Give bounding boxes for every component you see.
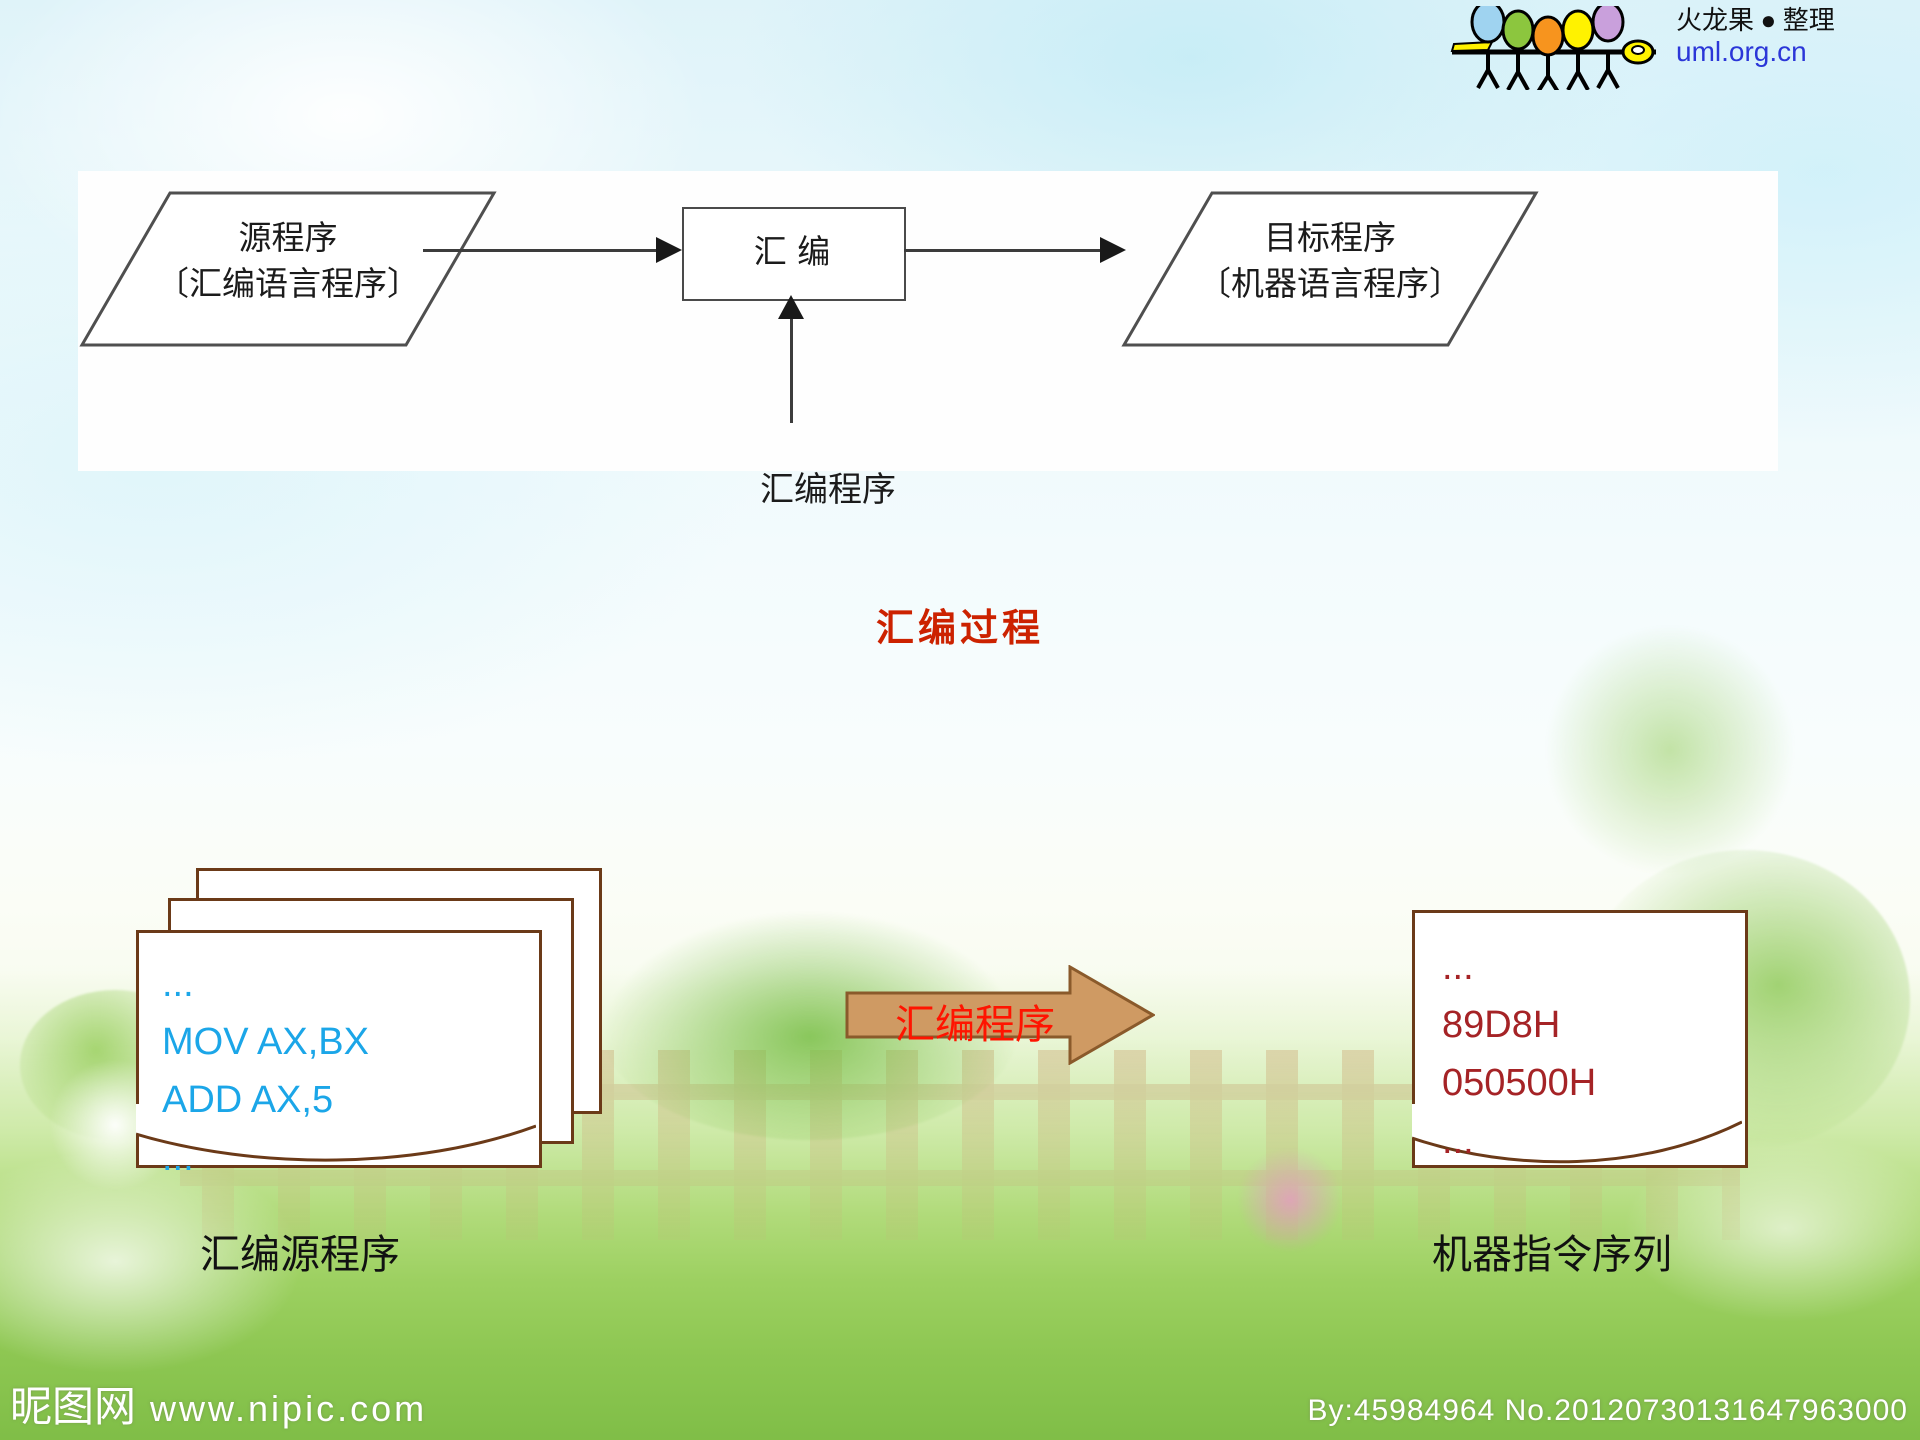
source-program-line1: 源程序	[108, 215, 468, 261]
arrow-assemble-to-target-line	[904, 249, 1104, 252]
source-code-line-3: ADD AX,5	[162, 1071, 369, 1129]
source-code-line-2: MOV AX,BX	[162, 1013, 369, 1071]
source-code-line-1: ...	[162, 955, 369, 1013]
object-code-line-1: ...	[1442, 938, 1596, 996]
target-program-label: 目标程序 〔机器语言程序〕	[1150, 215, 1510, 307]
nipic-site-name: 昵图网	[10, 1373, 136, 1434]
page-title: 汇编过程	[0, 597, 1920, 652]
nipic-site-url: www.nipic.com	[150, 1388, 427, 1430]
object-card-caption: 机器指令序列	[1432, 1222, 1672, 1280]
source-card-caption: 汇编源程序	[200, 1222, 400, 1280]
flower-cluster-right	[1230, 1140, 1350, 1260]
stick-figures-balloons-icon	[1444, 6, 1664, 90]
header-logo-area: 火龙果 ● 整理 uml.org.cn	[1206, 4, 1906, 90]
vine-decoration-right	[1540, 620, 1800, 880]
arrow-assembler-up-head	[778, 295, 804, 319]
target-program-line1: 目标程序	[1150, 215, 1510, 261]
assembler-arrow-label: 汇编程序	[880, 992, 1070, 1050]
brand-text: 火龙果 ● 整理 uml.org.cn	[1676, 6, 1896, 68]
nipic-watermark: 昵图网 www.nipic.com	[10, 1373, 427, 1434]
arrow-assembler-up-line	[790, 313, 793, 423]
source-program-label: 源程序 〔汇编语言程序〕	[108, 215, 468, 307]
source-program-line2: 〔汇编语言程序〕	[108, 261, 468, 307]
object-code-line-2: 89D8H	[1442, 996, 1596, 1054]
assemble-process-label: 汇 编	[682, 229, 902, 275]
object-card-code: ... 89D8H 050500H ...	[1442, 938, 1596, 1170]
source-code-line-4: ...	[162, 1129, 369, 1187]
target-program-line2: 〔机器语言程序〕	[1150, 261, 1510, 307]
assembly-flow-diagram: 源程序 〔汇编语言程序〕 汇 编 目标程序 〔机器语言程序〕	[78, 171, 1778, 471]
arrow-source-to-assemble-head	[656, 237, 682, 263]
brand-url[interactable]: uml.org.cn	[1676, 36, 1896, 68]
object-code-line-3: 050500H	[1442, 1054, 1596, 1112]
assembler-program-label: 汇编程序	[760, 462, 896, 511]
object-code-line-4: ...	[1442, 1112, 1596, 1170]
source-card-code: ... MOV AX,BX ADD AX,5 ...	[162, 955, 369, 1187]
brand-name: 火龙果 ● 整理	[1676, 6, 1896, 36]
arrow-source-to-assemble-line	[423, 249, 658, 252]
image-credit: By:45984964 No.20120730131647963000	[1307, 1394, 1908, 1428]
